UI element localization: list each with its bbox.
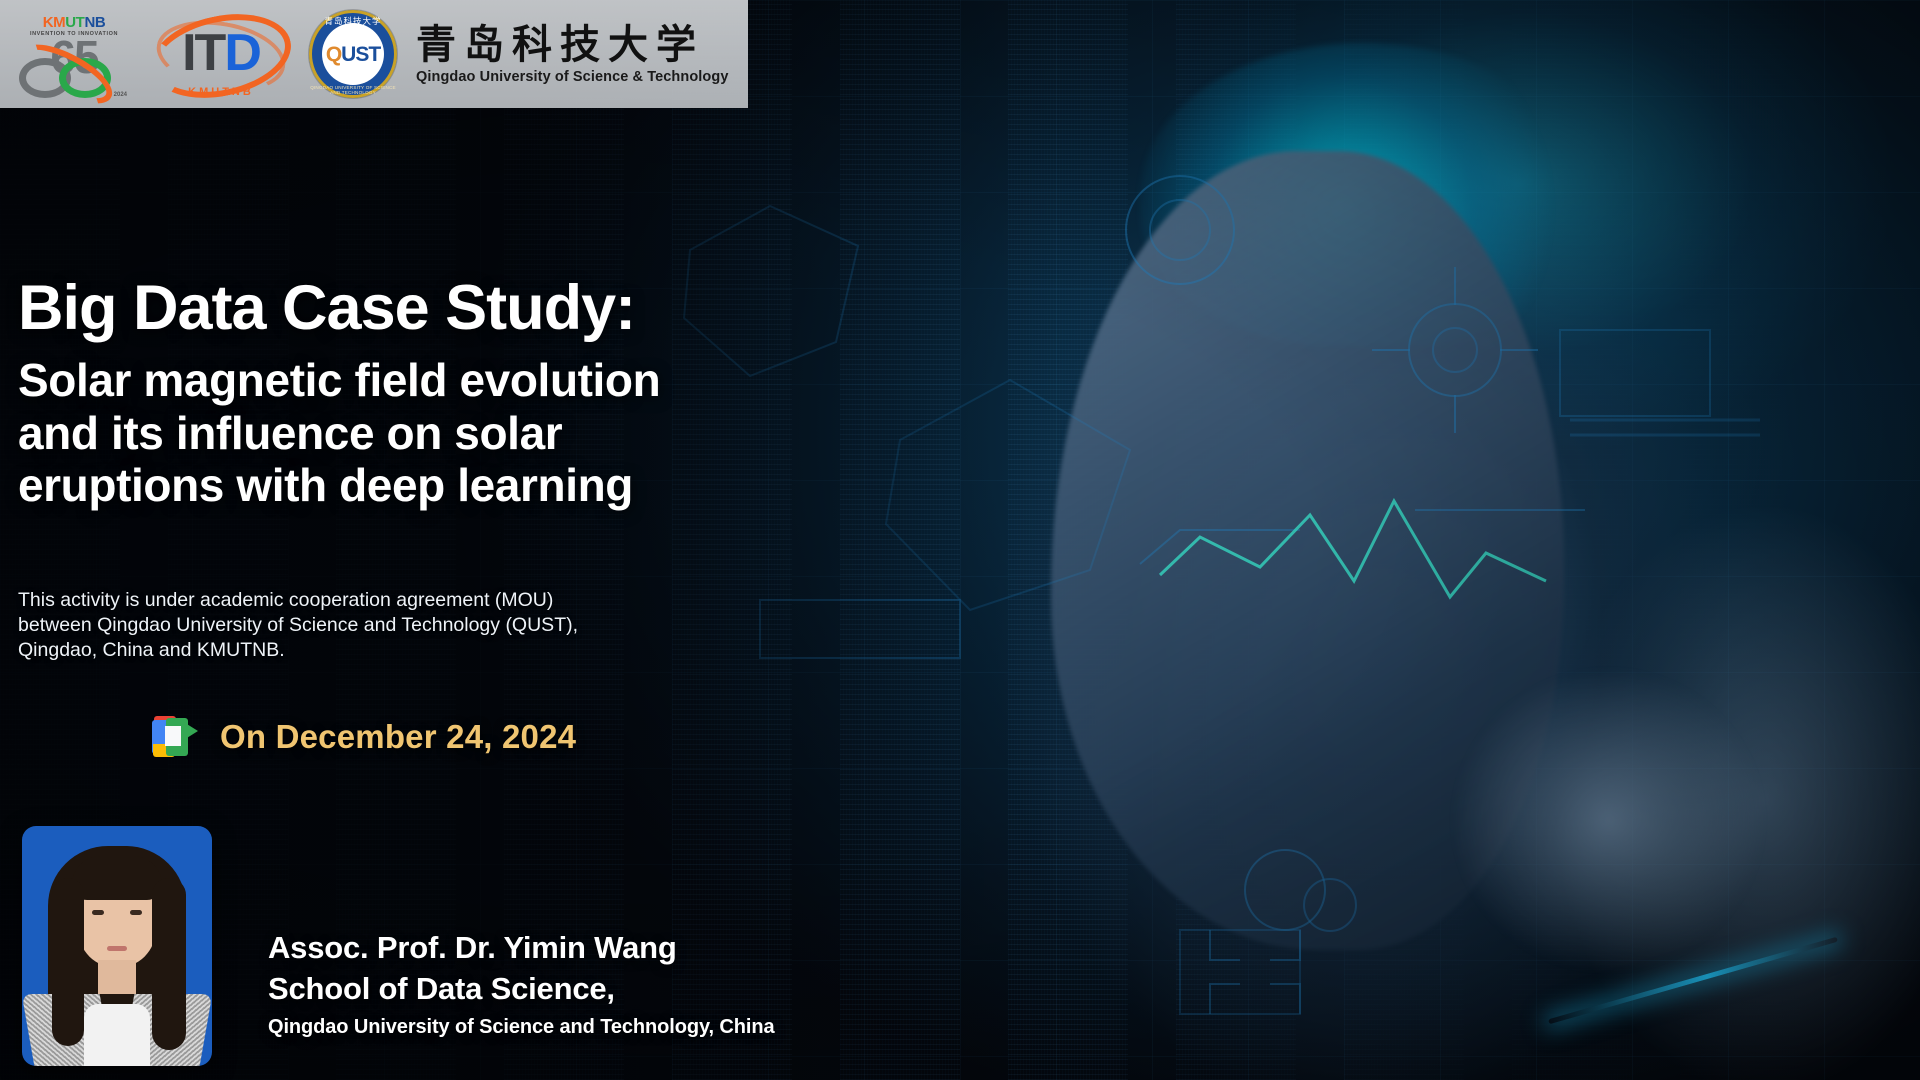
- qust-seal-logo: 青岛科技大学 QUST 1950 QINGDAO UNIVERSITY OF S…: [304, 2, 402, 106]
- itd-letter-blue: D: [224, 24, 260, 82]
- itd-sublabel: KMUTNB: [188, 86, 254, 98]
- itd-logo: ITD KMUTNB: [146, 2, 296, 106]
- subtitle-line-2: and its influence on solar: [18, 407, 898, 459]
- meet-icon-white-center: [165, 726, 181, 746]
- logo-bar: KMUTNB INVENTION TO INNOVATION 65 2024 I…: [0, 0, 748, 108]
- qust-wordmark: 青岛科技大学 Qingdao University of Science & T…: [410, 2, 742, 106]
- kmutnb-letter-k: K: [43, 14, 53, 31]
- title-block: Big Data Case Study: Solar magnetic fiel…: [18, 276, 898, 512]
- portrait-hair-fringe: [72, 856, 162, 900]
- qust-acronym-ust: UST: [341, 43, 380, 66]
- itd-letters-gray: IT: [182, 24, 224, 82]
- portrait-mouth: [107, 946, 127, 951]
- mou-note: This activity is under academic cooperat…: [18, 588, 758, 663]
- portrait-hair-left: [52, 878, 84, 1046]
- itd-wordmark: ITD: [182, 29, 260, 78]
- mou-line-2: between Qingdao University of Science an…: [18, 613, 758, 638]
- event-date: On December 24, 2024: [220, 718, 576, 756]
- qust-acronym-q: Q: [326, 43, 341, 66]
- event-date-row: On December 24, 2024: [152, 712, 576, 762]
- subtitle-line-3: eruptions with deep learning: [18, 459, 898, 511]
- kmutnb-letter-u: U: [65, 14, 75, 31]
- kmutnb-letter-b: B: [95, 14, 105, 31]
- qust-seal-english-ring: QINGDAO UNIVERSITY OF SCIENCE AND TECHNO…: [309, 85, 397, 95]
- speaker-info: Assoc. Prof. Dr. Yimin Wang School of Da…: [268, 928, 774, 1042]
- subtitle-line-1: Solar magnetic field evolution: [18, 354, 898, 406]
- google-meet-icon[interactable]: [152, 712, 202, 762]
- page-title: Big Data Case Study:: [18, 276, 898, 340]
- portrait-hair-right: [152, 878, 186, 1050]
- portrait-eye-right: [130, 910, 142, 915]
- qust-seal-inner-disc: QUST: [322, 23, 384, 85]
- speaker-affiliation: Qingdao University of Science and Techno…: [268, 1012, 774, 1042]
- mou-line-3: Qingdao, China and KMUTNB.: [18, 638, 758, 663]
- vignette-overlay: [0, 0, 1920, 1080]
- kmutnb-wordmark: KMUTNB: [43, 15, 106, 30]
- portrait-eye-left: [92, 910, 104, 915]
- subtitle: Solar magnetic field evolution and its i…: [18, 354, 898, 511]
- speaker-department: School of Data Science,: [268, 969, 774, 1010]
- kmutnb-anniversary-mark: 65 2024: [15, 38, 133, 100]
- qust-english-name: Qingdao University of Science & Technolo…: [416, 69, 729, 85]
- qust-seal: 青岛科技大学 QUST 1950 QINGDAO UNIVERSITY OF S…: [309, 10, 397, 98]
- qust-chinese-name: 青岛科技大学: [416, 24, 704, 66]
- kmutnb-65-logo: KMUTNB INVENTION TO INNOVATION 65 2024: [10, 2, 138, 106]
- meet-icon-camera-wedge: [182, 721, 198, 741]
- qust-acronym: QUST: [326, 44, 380, 65]
- portrait-neck: [98, 960, 136, 994]
- speaker-name: Assoc. Prof. Dr. Yimin Wang: [268, 928, 774, 969]
- anniversary-year: 2024: [114, 92, 127, 98]
- mou-line-1: This activity is under academic cooperat…: [18, 588, 758, 613]
- portrait-shirt: [84, 1004, 150, 1066]
- kmutnb-letter-m: M: [53, 14, 65, 31]
- presentation-slide: KMUTNB INVENTION TO INNOVATION 65 2024 I…: [0, 0, 1920, 1080]
- speaker-avatar: [22, 826, 212, 1066]
- kmutnb-letter-n: N: [84, 14, 94, 31]
